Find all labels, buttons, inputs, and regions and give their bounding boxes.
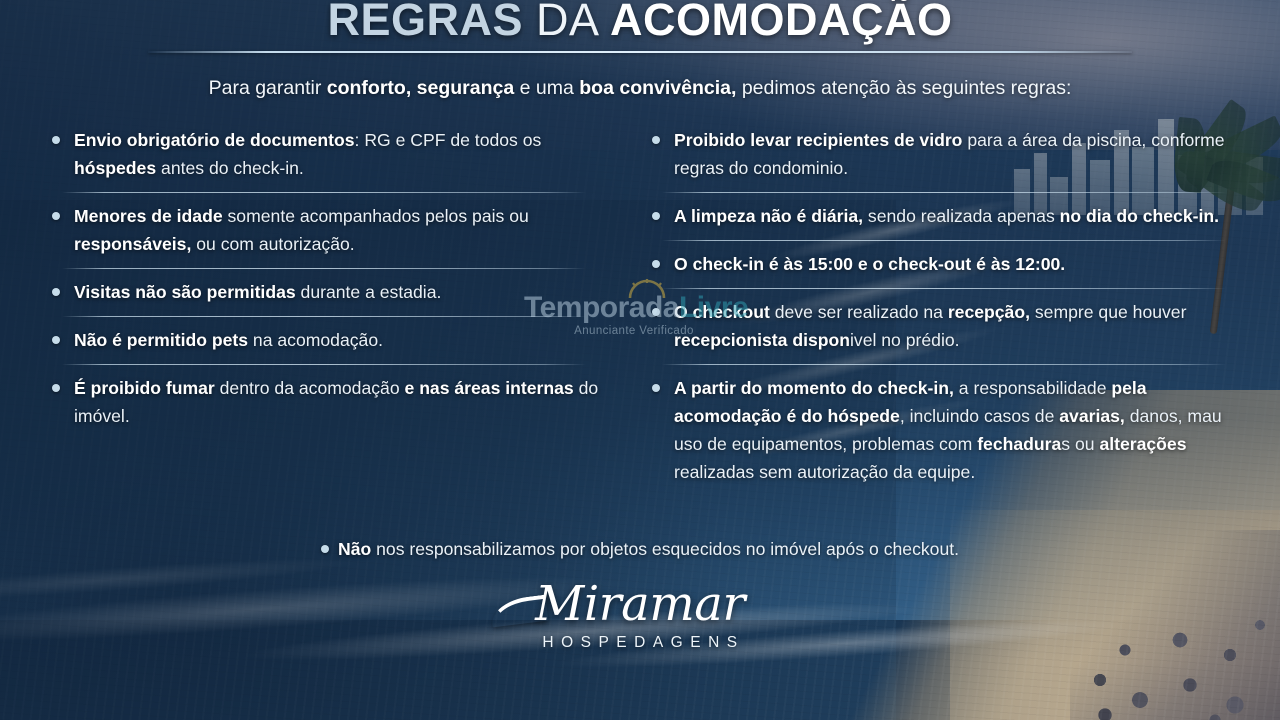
rule-divider xyxy=(662,240,1226,241)
title-part-da: DA xyxy=(523,0,610,45)
rule-body: Visitas não são permitidas durante a est… xyxy=(74,282,441,302)
title-divider xyxy=(148,51,1132,53)
text-emphasis: boa convivência, xyxy=(579,77,736,99)
rule-text: O checkout deve ser realizado na recepçã… xyxy=(644,298,1244,354)
text-plain: sendo realizada apenas xyxy=(863,206,1060,226)
text-plain: ivel no prédio. xyxy=(850,330,960,350)
text-plain: e uma xyxy=(514,77,579,99)
bullet-dot-icon xyxy=(652,260,660,268)
rule-divider xyxy=(62,268,586,269)
rule-body: A partir do momento do check-in, a respo… xyxy=(674,378,1222,482)
rule-divider xyxy=(62,192,586,193)
rule-body: O checkout deve ser realizado na recepçã… xyxy=(674,302,1186,350)
rule-text: A limpeza não é diária, sendo realizada … xyxy=(644,202,1244,230)
subtitle: Para garantir conforto, segurança e uma … xyxy=(0,77,1280,100)
bullet-dot-icon xyxy=(52,384,60,392)
rule-divider xyxy=(62,316,586,317)
bullet-dot-icon xyxy=(52,336,60,344)
rule-body: Menores de idade somente acompanhados pe… xyxy=(74,206,529,254)
text-emphasis: Não xyxy=(338,539,371,559)
bullet-dot-icon xyxy=(321,545,329,553)
text-plain: deve ser realizado na xyxy=(770,302,948,322)
rule-body: É proibido fumar dentro da acomodação e … xyxy=(74,378,598,426)
text-plain: pedimos atenção às seguintes regras: xyxy=(736,77,1071,99)
text-plain: antes do check-in. xyxy=(156,158,304,178)
text-emphasis: e nas áreas internas xyxy=(405,378,574,398)
text-plain: s ou xyxy=(1061,434,1099,454)
text-plain: na acomodação. xyxy=(248,330,383,350)
bullet-dot-icon xyxy=(52,212,60,220)
bullet-dot-icon xyxy=(652,308,660,316)
text-plain: Para garantir xyxy=(209,77,327,99)
text-emphasis: conforto, segurança xyxy=(327,77,514,99)
rule-text: Menores de idade somente acompanhados pe… xyxy=(44,202,604,258)
rule-body: Proibido levar recipientes de vidro para… xyxy=(674,130,1225,178)
rule-item: É proibido fumar dentro da acomodação e … xyxy=(44,374,604,430)
rule-item: Visitas não são permitidas durante a est… xyxy=(44,278,604,306)
text-plain: nos responsabilizamos por objetos esquec… xyxy=(371,539,959,559)
rule-body: O check-in é às 15:00 e o check-out é às… xyxy=(674,254,1065,274)
text-plain: sempre que houver xyxy=(1030,302,1186,322)
text-emphasis: É proibido fumar xyxy=(74,378,215,398)
text-emphasis: Visitas não são permitidas xyxy=(74,282,296,302)
bullet-dot-icon xyxy=(652,384,660,392)
rule-item: Não é permitido pets na acomodação. xyxy=(44,326,604,354)
text-plain: dentro da acomodação xyxy=(215,378,405,398)
text-plain: somente acompanhados pelos pais ou xyxy=(223,206,529,226)
text-emphasis: fechadura xyxy=(977,434,1061,454)
rule-text: Envio obrigatório de documentos: RG e CP… xyxy=(44,126,604,182)
text-plain: ou com autorização. xyxy=(191,234,354,254)
footnote-text: Não nos responsabilizamos por objetos es… xyxy=(338,539,959,559)
logo-name: Miramar xyxy=(535,576,745,632)
text-emphasis: Envio obrigatório de documentos xyxy=(74,130,355,150)
rules-column-left: Envio obrigatório de documentos: RG e CP… xyxy=(44,126,604,430)
text-emphasis: alterações xyxy=(1099,434,1186,454)
rule-text: A partir do momento do check-in, a respo… xyxy=(644,374,1244,486)
footnote: Não nos responsabilizamos por objetos es… xyxy=(0,539,1280,560)
text-plain: a responsabilidade xyxy=(954,378,1111,398)
rules-column-right: Proibido levar recipientes de vidro para… xyxy=(644,126,1244,486)
rule-divider xyxy=(662,288,1226,289)
rule-body: Não é permitido pets na acomodação. xyxy=(74,330,383,350)
logo-wordmark: Miramar xyxy=(535,578,745,630)
rule-text: Proibido levar recipientes de vidro para… xyxy=(644,126,1244,182)
text-emphasis: recepção, xyxy=(948,302,1030,322)
title-part-regras: REGRAS xyxy=(327,0,523,45)
text-emphasis: avarias, xyxy=(1059,406,1125,426)
text-emphasis: O checkout xyxy=(674,302,770,322)
text-emphasis: A limpeza não é diária, xyxy=(674,206,863,226)
rule-body: Envio obrigatório de documentos: RG e CP… xyxy=(74,130,541,178)
text-plain: , incluindo casos de xyxy=(900,406,1059,426)
text-emphasis: no dia do check-in. xyxy=(1060,206,1219,226)
rule-item: Proibido levar recipientes de vidro para… xyxy=(644,126,1244,182)
rule-item: Envio obrigatório de documentos: RG e CP… xyxy=(44,126,604,182)
logo-tagline: HOSPEDAGENS xyxy=(0,634,1280,652)
text-emphasis: A partir do momento do check-in, xyxy=(674,378,954,398)
text-plain: : RG e CPF de todos os xyxy=(355,130,542,150)
brand-logo: Miramar HOSPEDAGENS xyxy=(0,578,1280,652)
bullet-dot-icon xyxy=(52,136,60,144)
text-emphasis: responsáveis, xyxy=(74,234,191,254)
text-emphasis: recepcionista dispon xyxy=(674,330,850,350)
text-plain: realizadas sem autorização da equipe. xyxy=(674,462,975,482)
rule-item: A limpeza não é diária, sendo realizada … xyxy=(644,202,1244,230)
rule-text: É proibido fumar dentro da acomodação e … xyxy=(44,374,604,430)
bullet-dot-icon xyxy=(52,288,60,296)
rule-text: O check-in é às 15:00 e o check-out é às… xyxy=(644,250,1244,278)
text-emphasis: Não é permitido pets xyxy=(74,330,248,350)
rule-text: Não é permitido pets na acomodação. xyxy=(44,326,604,354)
text-plain: durante a estadia. xyxy=(296,282,442,302)
rule-body: A limpeza não é diária, sendo realizada … xyxy=(674,206,1219,226)
page-title: REGRAS DA ACOMODAÇÃO xyxy=(0,0,1280,46)
text-emphasis: hóspedes xyxy=(74,158,156,178)
rule-text: Visitas não são permitidas durante a est… xyxy=(44,278,604,306)
rule-item: O checkout deve ser realizado na recepçã… xyxy=(644,298,1244,354)
rule-divider xyxy=(662,192,1226,193)
text-emphasis: Menores de idade xyxy=(74,206,223,226)
text-emphasis: Proibido levar recipientes de vidro xyxy=(674,130,962,150)
bullet-dot-icon xyxy=(652,212,660,220)
rule-item: O check-in é às 15:00 e o check-out é às… xyxy=(644,250,1244,278)
bullet-dot-icon xyxy=(652,136,660,144)
rule-divider xyxy=(62,364,586,365)
text-emphasis: O check-in é às 15:00 e o check-out é às… xyxy=(674,254,1065,274)
rule-item: Menores de idade somente acompanhados pe… xyxy=(44,202,604,258)
rule-item: A partir do momento do check-in, a respo… xyxy=(644,374,1244,486)
rule-divider xyxy=(662,364,1226,365)
title-part-acomodacao: ACOMODAÇÃO xyxy=(610,0,952,45)
